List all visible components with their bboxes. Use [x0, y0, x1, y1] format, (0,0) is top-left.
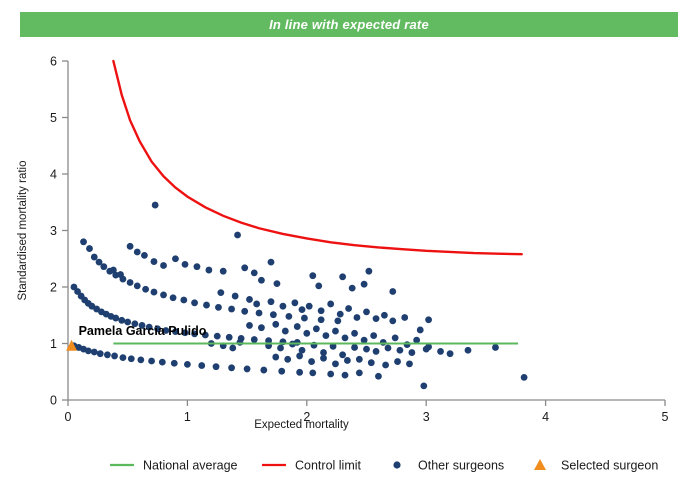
- surgeon-point[interactable]: [214, 333, 221, 340]
- y-tick-label: 4: [50, 168, 57, 182]
- surgeon-point[interactable]: [437, 348, 444, 355]
- surgeon-point[interactable]: [268, 298, 275, 305]
- surgeon-point[interactable]: [251, 336, 258, 343]
- surgeon-point[interactable]: [217, 289, 224, 296]
- surgeon-point[interactable]: [205, 267, 212, 274]
- y-tick-label: 1: [50, 337, 57, 351]
- surgeon-point[interactable]: [234, 232, 241, 239]
- surgeon-point[interactable]: [308, 358, 315, 365]
- surgeon-point[interactable]: [268, 259, 275, 266]
- legend-national-average: National average: [110, 459, 238, 473]
- funnel-chart: 0123456012345 Standardised mortality rat…: [0, 40, 700, 500]
- legend-selected-surgeon-swatch: [534, 459, 546, 470]
- surgeon-point[interactable]: [111, 353, 118, 360]
- surgeon-point[interactable]: [91, 349, 98, 356]
- surgeon-point[interactable]: [327, 301, 334, 308]
- surgeon-point[interactable]: [344, 357, 351, 364]
- surgeon-point[interactable]: [332, 328, 339, 335]
- surgeon-point[interactable]: [334, 318, 341, 325]
- y-tick-label: 2: [50, 281, 57, 295]
- surgeon-point[interactable]: [381, 312, 388, 319]
- surgeon-point[interactable]: [191, 299, 198, 306]
- surgeon-point[interactable]: [215, 304, 222, 311]
- surgeon-point[interactable]: [373, 315, 380, 322]
- status-banner-label: In line with expected rate: [269, 17, 429, 32]
- selected-surgeon-label: Pamela Garcia Pulido: [79, 324, 207, 338]
- surgeon-point[interactable]: [86, 245, 93, 252]
- surgeon-point[interactable]: [251, 269, 258, 276]
- surgeon-point[interactable]: [256, 310, 263, 317]
- surgeon-point[interactable]: [80, 238, 87, 245]
- surgeon-point[interactable]: [118, 317, 125, 324]
- surgeon-point[interactable]: [404, 341, 411, 348]
- x-tick-label: 1: [184, 410, 191, 424]
- surgeon-point[interactable]: [351, 330, 358, 337]
- chart-legend: National averageControl limitOther surge…: [110, 459, 658, 473]
- surgeon-point[interactable]: [284, 356, 291, 363]
- surgeon-point[interactable]: [198, 362, 205, 369]
- surgeon-point[interactable]: [313, 325, 320, 332]
- surgeon-point[interactable]: [272, 354, 279, 361]
- surgeon-point[interactable]: [309, 369, 316, 376]
- surgeon-point[interactable]: [159, 359, 166, 366]
- control-limit-line: [113, 61, 521, 254]
- surgeon-point[interactable]: [413, 337, 420, 344]
- x-axis-title: Expected mortality: [254, 419, 349, 431]
- surgeon-point[interactable]: [339, 273, 346, 280]
- surgeon-point[interactable]: [91, 254, 98, 261]
- surgeon-point[interactable]: [184, 361, 191, 368]
- surgeon-point[interactable]: [363, 308, 370, 315]
- chart-canvas: 0123456012345 Standardised mortality rat…: [0, 40, 700, 500]
- surgeon-point[interactable]: [345, 305, 352, 312]
- surgeon-point[interactable]: [521, 374, 528, 381]
- surgeon-point[interactable]: [285, 313, 292, 320]
- surgeon-point[interactable]: [258, 324, 265, 331]
- surgeon-point[interactable]: [301, 315, 308, 322]
- chart-axes: [62, 61, 665, 406]
- surgeon-point[interactable]: [342, 372, 349, 379]
- x-tick-label: 5: [662, 410, 669, 424]
- surgeon-point[interactable]: [180, 297, 187, 304]
- surgeon-point[interactable]: [151, 289, 158, 296]
- chart-tick-labels: 0123456012345: [50, 55, 668, 425]
- y-tick-label: 0: [50, 394, 57, 408]
- surgeon-point[interactable]: [134, 282, 141, 289]
- surgeon-point[interactable]: [237, 339, 244, 346]
- surgeon-point[interactable]: [420, 382, 427, 389]
- surgeon-point[interactable]: [137, 356, 144, 363]
- surgeon-point[interactable]: [354, 314, 361, 321]
- surgeon-point[interactable]: [258, 277, 265, 284]
- surgeon-point[interactable]: [241, 264, 248, 271]
- surgeon-point[interactable]: [406, 360, 413, 367]
- surgeon-point[interactable]: [380, 339, 387, 346]
- y-tick-label: 3: [50, 224, 57, 238]
- surgeon-point[interactable]: [117, 271, 124, 278]
- surgeon-point[interactable]: [389, 288, 396, 295]
- surgeon-point[interactable]: [337, 311, 344, 318]
- surgeon-point[interactable]: [220, 268, 227, 275]
- surgeon-point[interactable]: [349, 285, 356, 292]
- x-tick-label: 0: [65, 410, 72, 424]
- surgeon-point[interactable]: [120, 354, 127, 361]
- surgeon-point[interactable]: [274, 280, 281, 287]
- surgeon-point[interactable]: [272, 321, 279, 328]
- surgeon-point[interactable]: [408, 349, 415, 356]
- surgeon-point[interactable]: [423, 346, 430, 353]
- surgeon-point[interactable]: [318, 307, 325, 314]
- surgeon-point[interactable]: [382, 362, 389, 369]
- surgeon-point[interactable]: [171, 360, 178, 367]
- surgeon-point[interactable]: [342, 334, 349, 341]
- x-tick-label: 3: [423, 410, 430, 424]
- surgeon-point[interactable]: [425, 316, 432, 323]
- y-tick-label: 6: [50, 55, 57, 69]
- surgeon-point[interactable]: [339, 351, 346, 358]
- surgeon-point[interactable]: [351, 344, 358, 351]
- surgeon-point[interactable]: [401, 314, 408, 321]
- funnel-plot-page: In line with expected rate 0123456012345…: [0, 0, 700, 500]
- y-axis-title: Standardised mortality ratio: [17, 161, 29, 301]
- surgeon-point[interactable]: [182, 261, 189, 268]
- surgeon-point[interactable]: [375, 373, 382, 380]
- surgeon-point[interactable]: [100, 263, 107, 270]
- surgeon-point[interactable]: [104, 351, 111, 358]
- surgeon-point[interactable]: [303, 330, 310, 337]
- surgeon-point[interactable]: [277, 345, 284, 352]
- surgeon-point[interactable]: [465, 347, 472, 354]
- surgeon-point[interactable]: [370, 332, 377, 339]
- control-limit-path: [113, 61, 521, 254]
- surgeon-point[interactable]: [278, 368, 285, 375]
- legend-selected-surgeon: Selected surgeon: [534, 459, 658, 473]
- surgeon-point[interactable]: [141, 252, 148, 259]
- legend-other-surgeons: Other surgeons: [393, 459, 504, 473]
- surgeon-point[interactable]: [363, 346, 370, 353]
- surgeon-point[interactable]: [232, 293, 239, 300]
- legend-selected-surgeon-label: Selected surgeon: [561, 459, 658, 473]
- surgeon-point[interactable]: [241, 308, 248, 315]
- surgeon-point[interactable]: [296, 353, 303, 360]
- surgeon-point[interactable]: [356, 356, 363, 363]
- surgeon-point[interactable]: [327, 371, 334, 378]
- legend-control-limit-label: Control limit: [295, 459, 362, 473]
- surgeon-point[interactable]: [260, 367, 267, 374]
- surgeon-point[interactable]: [110, 267, 117, 274]
- scatter-points-layer[interactable]: [71, 202, 528, 390]
- surgeon-point[interactable]: [246, 296, 253, 303]
- surgeon-point[interactable]: [160, 292, 167, 299]
- surgeon-point[interactable]: [315, 282, 322, 289]
- surgeon-point[interactable]: [417, 327, 424, 334]
- surgeon-point[interactable]: [299, 306, 306, 313]
- surgeon-point[interactable]: [128, 355, 135, 362]
- surgeon-point[interactable]: [332, 360, 339, 367]
- legend-other-surgeons-swatch: [393, 461, 400, 468]
- legend-other-surgeons-label: Other surgeons: [418, 459, 504, 473]
- surgeon-point[interactable]: [246, 322, 253, 329]
- surgeon-point[interactable]: [389, 318, 396, 325]
- surgeon-point[interactable]: [194, 263, 201, 270]
- x-tick-label: 4: [542, 410, 549, 424]
- surgeon-point[interactable]: [97, 350, 104, 357]
- surgeon-point[interactable]: [244, 366, 251, 373]
- legend-control-limit: Control limit: [262, 459, 362, 473]
- surgeon-point[interactable]: [203, 302, 210, 309]
- surgeon-point[interactable]: [172, 255, 179, 262]
- surgeon-point[interactable]: [142, 286, 149, 293]
- surgeon-point[interactable]: [253, 301, 260, 308]
- surgeon-point[interactable]: [213, 363, 220, 370]
- surgeon-point[interactable]: [397, 347, 404, 354]
- surgeon-point[interactable]: [160, 262, 167, 269]
- surgeon-point[interactable]: [148, 358, 155, 365]
- surgeon-point[interactable]: [373, 348, 380, 355]
- surgeon-point[interactable]: [280, 303, 287, 310]
- surgeon-point[interactable]: [85, 347, 92, 354]
- surgeon-point[interactable]: [282, 328, 289, 335]
- surgeon-point[interactable]: [296, 369, 303, 376]
- surgeon-point[interactable]: [361, 281, 368, 288]
- status-banner: In line with expected rate: [20, 12, 678, 37]
- surgeon-point[interactable]: [127, 279, 134, 286]
- y-tick-label: 5: [50, 111, 57, 125]
- surgeon-point[interactable]: [134, 249, 141, 256]
- surgeon-point[interactable]: [291, 299, 298, 306]
- surgeon-point[interactable]: [151, 258, 158, 265]
- surgeon-point[interactable]: [127, 243, 134, 250]
- surgeon-point[interactable]: [306, 303, 313, 310]
- surgeon-point[interactable]: [361, 337, 368, 344]
- surgeon-point[interactable]: [356, 369, 363, 376]
- legend-national-average-label: National average: [143, 459, 238, 473]
- surgeon-point[interactable]: [492, 344, 499, 351]
- surgeon-point[interactable]: [394, 358, 401, 365]
- surgeon-point[interactable]: [309, 272, 316, 279]
- surgeon-point[interactable]: [152, 202, 159, 209]
- surgeon-point[interactable]: [320, 355, 327, 362]
- surgeon-point[interactable]: [112, 315, 119, 322]
- surgeon-point[interactable]: [447, 350, 454, 357]
- surgeon-point[interactable]: [368, 359, 375, 366]
- surgeon-point[interactable]: [385, 345, 392, 352]
- surgeon-point[interactable]: [318, 316, 325, 323]
- surgeon-point[interactable]: [323, 332, 330, 339]
- surgeon-point[interactable]: [294, 323, 301, 330]
- surgeon-point[interactable]: [170, 294, 177, 301]
- surgeon-point[interactable]: [228, 306, 235, 313]
- surgeon-point[interactable]: [226, 334, 233, 341]
- surgeon-point[interactable]: [229, 345, 236, 352]
- surgeon-point[interactable]: [270, 311, 277, 318]
- surgeon-point[interactable]: [365, 268, 372, 275]
- surgeon-point[interactable]: [228, 364, 235, 371]
- surgeon-point[interactable]: [392, 334, 399, 341]
